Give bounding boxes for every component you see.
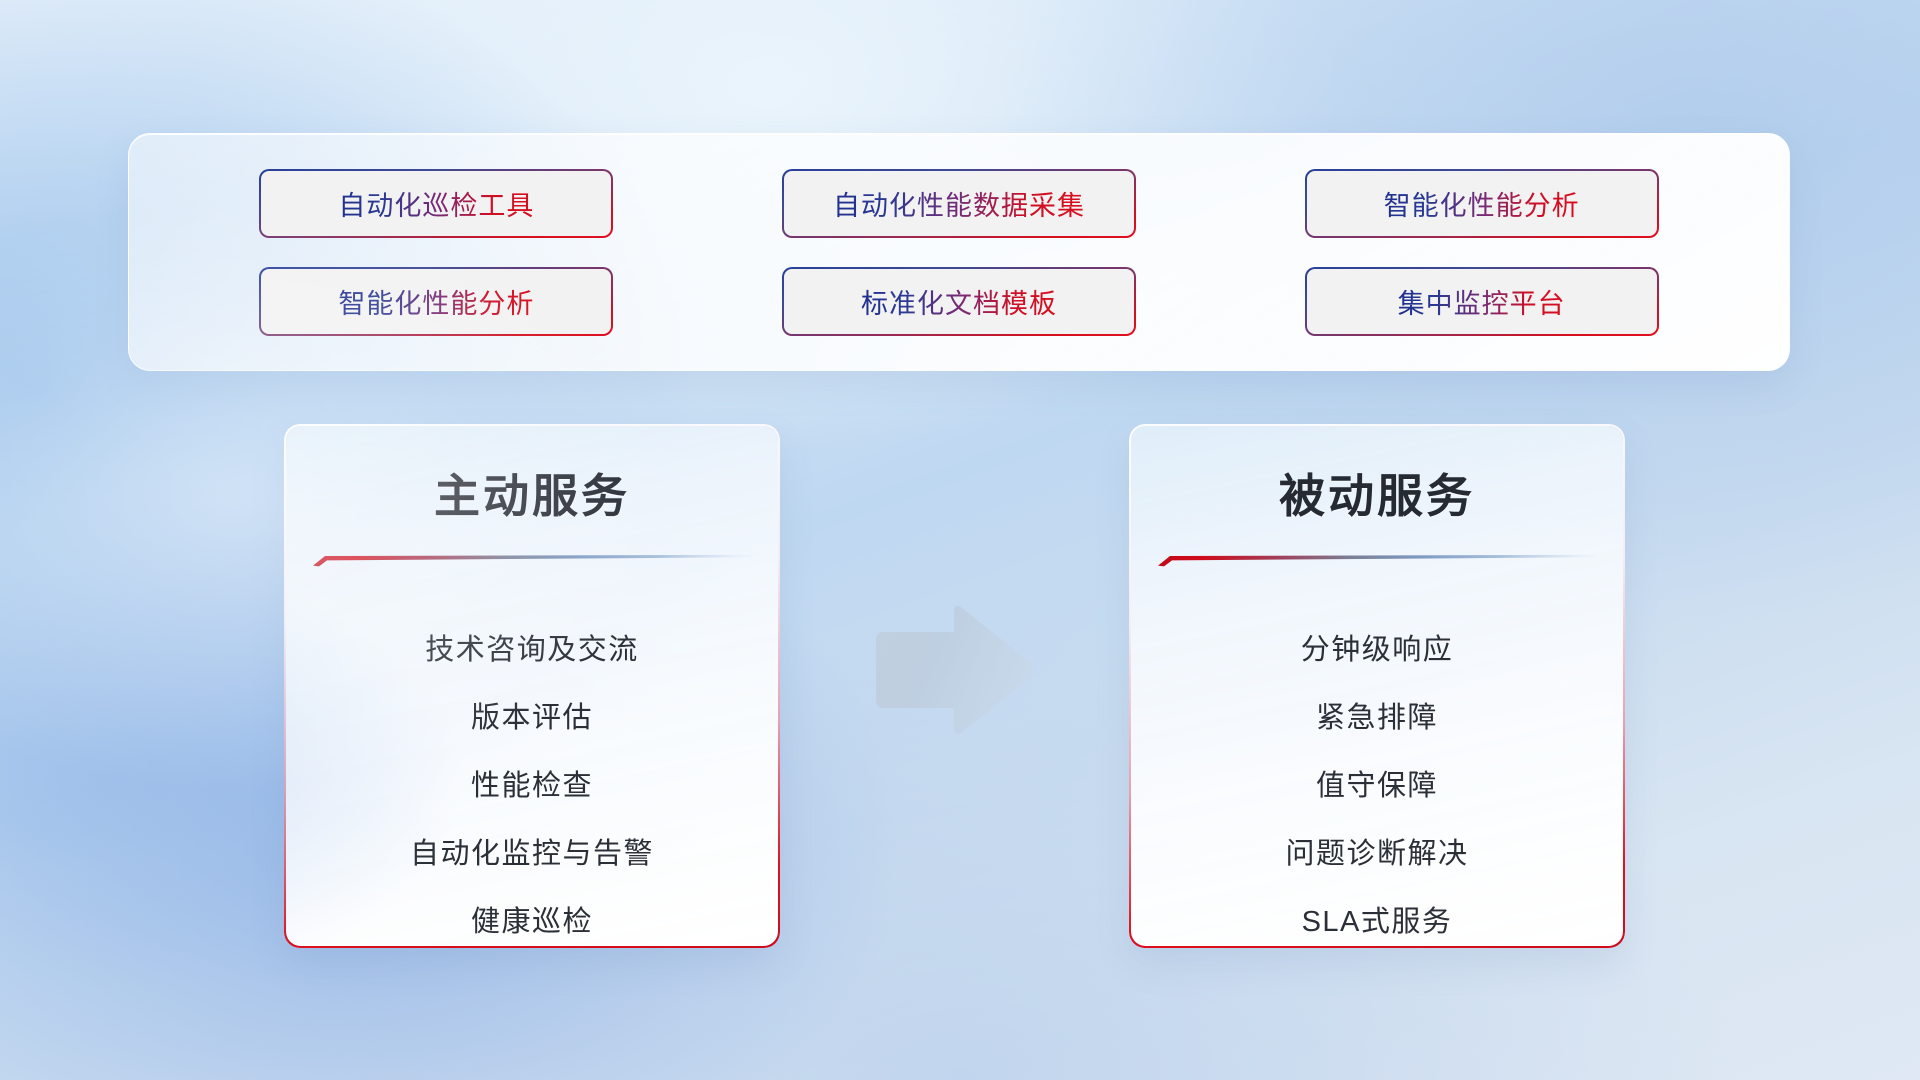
list-item: 紧急排障 <box>1316 694 1438 736</box>
card-title: 主动服务 <box>286 460 778 526</box>
list-item: 问题诊断解决 <box>1285 830 1468 872</box>
service-card-reactive: 被动服务 分钟级响应 紧急排障 值守保障 问题诊断解决 <box>1130 425 1624 947</box>
capability-tag[interactable]: 自动化巡检工具 <box>259 169 613 238</box>
service-list: 技术咨询及交流 版本评估 性能检查 自动化监控与告警 健康巡检 <box>286 626 778 940</box>
card-title: 被动服务 <box>1131 460 1623 526</box>
flow-arrow-right-icon <box>868 600 1040 740</box>
list-item: 值守保障 <box>1316 762 1438 804</box>
capability-tag-label: 自动化性能数据采集 <box>833 184 1085 223</box>
card-title-divider <box>313 554 753 567</box>
capability-tags-panel: 自动化巡检工具 自动化性能数据采集 智能化性能分析 智能化性能分析 标准化文档模… <box>128 133 1790 371</box>
capability-tag-label: 智能化性能分析 <box>338 282 534 321</box>
list-item: 性能检查 <box>471 762 593 804</box>
capability-tag[interactable]: 自动化性能数据采集 <box>782 169 1136 238</box>
list-item: 自动化监控与告警 <box>410 830 654 872</box>
list-item: SLA式服务 <box>1302 898 1453 940</box>
capability-tag-label: 智能化性能分析 <box>1384 184 1580 223</box>
service-card-proactive: 主动服务 技术咨询及交流 版本评估 性能检查 自动化监控与告警 <box>285 425 779 947</box>
capability-tag[interactable]: 标准化文档模板 <box>782 267 1136 336</box>
capability-tag[interactable]: 智能化性能分析 <box>259 267 613 336</box>
card-title-divider <box>1158 554 1598 567</box>
capability-tag[interactable]: 集中监控平台 <box>1305 267 1659 336</box>
list-item: 版本评估 <box>471 694 593 736</box>
capability-tag-label: 标准化文档模板 <box>861 282 1057 321</box>
diagram-canvas: 自动化巡检工具 自动化性能数据采集 智能化性能分析 智能化性能分析 标准化文档模… <box>0 0 1920 1080</box>
service-list: 分钟级响应 紧急排障 值守保障 问题诊断解决 SLA式服务 <box>1131 626 1623 940</box>
capability-tag-label: 自动化巡检工具 <box>338 184 534 223</box>
capability-tag-label: 集中监控平台 <box>1398 282 1566 321</box>
capability-tag[interactable]: 智能化性能分析 <box>1305 169 1659 238</box>
list-item: 健康巡检 <box>471 898 593 940</box>
list-item: 技术咨询及交流 <box>425 626 639 668</box>
list-item: 分钟级响应 <box>1301 626 1454 668</box>
